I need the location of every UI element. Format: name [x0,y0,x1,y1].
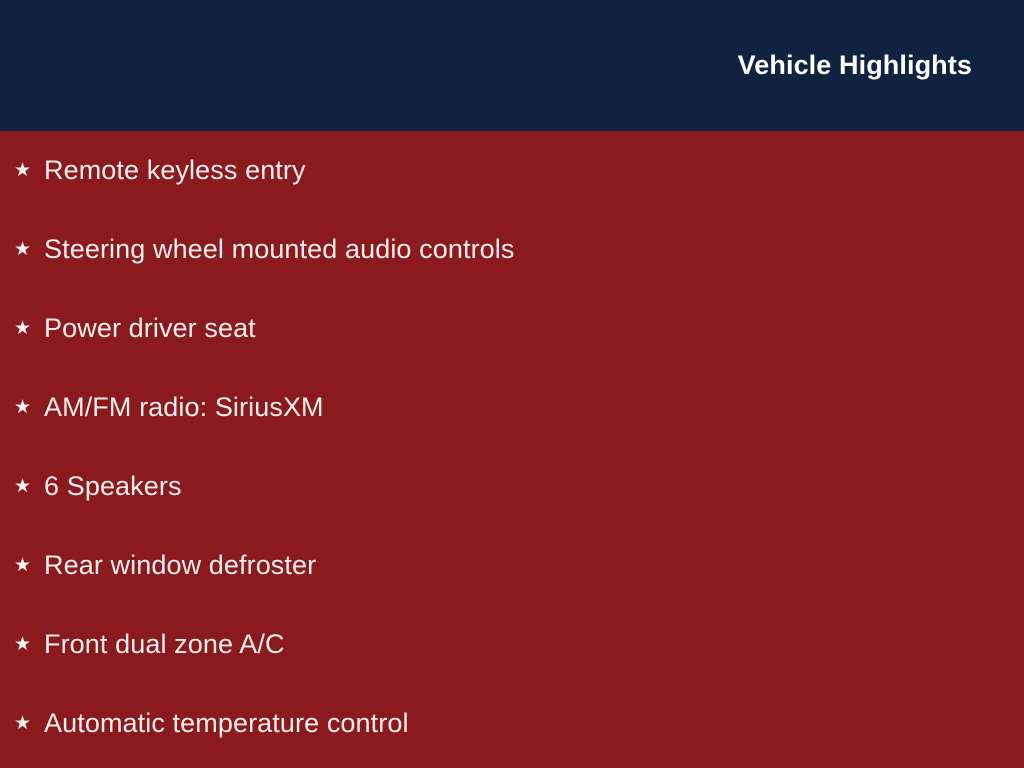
vehicle-feature-list: ★ Remote keyless entry ★ Steering wheel … [0,131,1024,763]
list-item: ★ Front dual zone A/C [0,605,1024,684]
list-item: ★ Rear window defroster [0,526,1024,605]
feature-label: 6 Speakers [44,471,182,502]
feature-label: AM/FM radio: SiriusXM [44,392,324,423]
list-item: ★ Automatic temperature control [0,684,1024,763]
list-item: ★ AM/FM radio: SiriusXM [0,368,1024,447]
feature-label: Rear window defroster [44,550,316,581]
presentation-slide: Vehicle Highlights ★ Remote keyless entr… [0,0,1024,768]
star-bullet-icon: ★ [14,556,44,575]
feature-label: Remote keyless entry [44,155,306,186]
star-bullet-icon: ★ [14,714,44,733]
star-bullet-icon: ★ [14,635,44,654]
slide-body: ★ Remote keyless entry ★ Steering wheel … [0,131,1024,768]
feature-label: Power driver seat [44,313,256,344]
star-bullet-icon: ★ [14,319,44,338]
star-bullet-icon: ★ [14,240,44,259]
feature-label: Steering wheel mounted audio controls [44,234,515,265]
slide-header: Vehicle Highlights [0,0,1024,131]
list-item: ★ Steering wheel mounted audio controls [0,210,1024,289]
star-bullet-icon: ★ [14,161,44,180]
list-item: ★ Power driver seat [0,289,1024,368]
feature-label: Front dual zone A/C [44,629,285,660]
list-item: ★ Remote keyless entry [0,131,1024,210]
star-bullet-icon: ★ [14,398,44,417]
star-bullet-icon: ★ [14,477,44,496]
page-title: Vehicle Highlights [738,52,972,79]
feature-label: Automatic temperature control [44,708,409,739]
list-item: ★ 6 Speakers [0,447,1024,526]
